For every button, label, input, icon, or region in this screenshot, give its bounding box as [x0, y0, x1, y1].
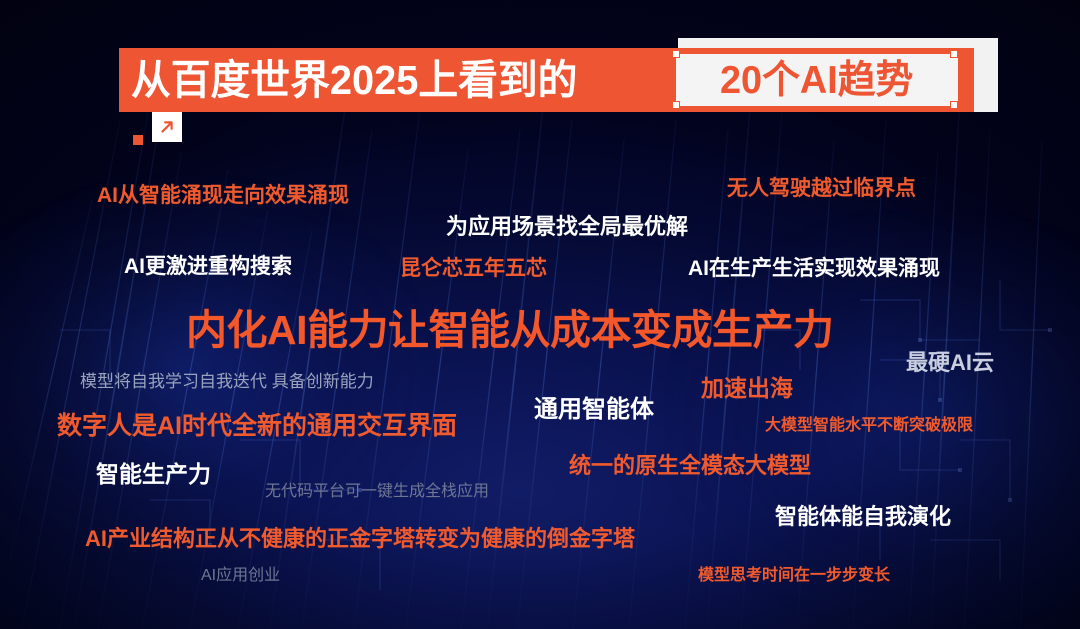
keyword-item: 昆仑芯五年五芯	[400, 258, 547, 279]
keyword-item: 为应用场景找全局最优解	[446, 216, 688, 238]
keyword-item: 无人驾驶越过临界点	[727, 178, 916, 199]
keyword-item: 模型思考时间在一步步变长	[698, 568, 890, 584]
corner-handle-top-right	[950, 50, 958, 58]
keyword-item: 智能生产力	[96, 463, 211, 486]
keyword-item: 内化AI能力让智能从成本变成生产力	[186, 310, 834, 351]
keyword-item: 数字人是AI时代全新的通用交互界面	[57, 414, 457, 439]
keyword-item: AI应用创业	[201, 568, 280, 584]
keyword-item: AI从智能涌现走向效果涌现	[97, 185, 349, 206]
title-highlight-box: 20个AI趋势	[676, 54, 958, 106]
title-highlight-text: 20个AI趋势	[720, 61, 913, 100]
keyword-item: 智能体能自我演化	[775, 506, 951, 528]
corner-handle-bottom-left	[672, 101, 680, 109]
keyword-item: 统一的原生全模态大模型	[569, 455, 811, 477]
keyword-item: 通用智能体	[534, 398, 654, 422]
keyword-item: AI产业结构正从不健康的正金字塔转变为健康的倒金字塔	[85, 528, 635, 550]
page-title: 从百度世界2025上看到的	[131, 60, 577, 101]
arrow-up-right-icon	[152, 112, 182, 142]
keyword-item: 加速出海	[701, 377, 793, 400]
keyword-item: AI更激进重构搜索	[124, 256, 292, 277]
keyword-item: 大模型智能水平不断突破极限	[765, 418, 973, 434]
accent-square	[133, 135, 143, 145]
corner-handle-bottom-right	[950, 101, 958, 109]
keyword-item: 无代码平台可一键生成全栈应用	[265, 484, 489, 500]
corner-handle-top-left	[672, 50, 680, 58]
keyword-item: 最硬AI云	[906, 352, 994, 374]
poster-canvas: 从百度世界2025上看到的 20个AI趋势 AI从智能涌现走向效果涌现无人驾驶越…	[0, 0, 1080, 629]
keyword-item: AI在生产生活实现效果涌现	[688, 258, 940, 279]
keyword-item: 模型将自我学习自我迭代 具备创新能力	[80, 373, 374, 390]
